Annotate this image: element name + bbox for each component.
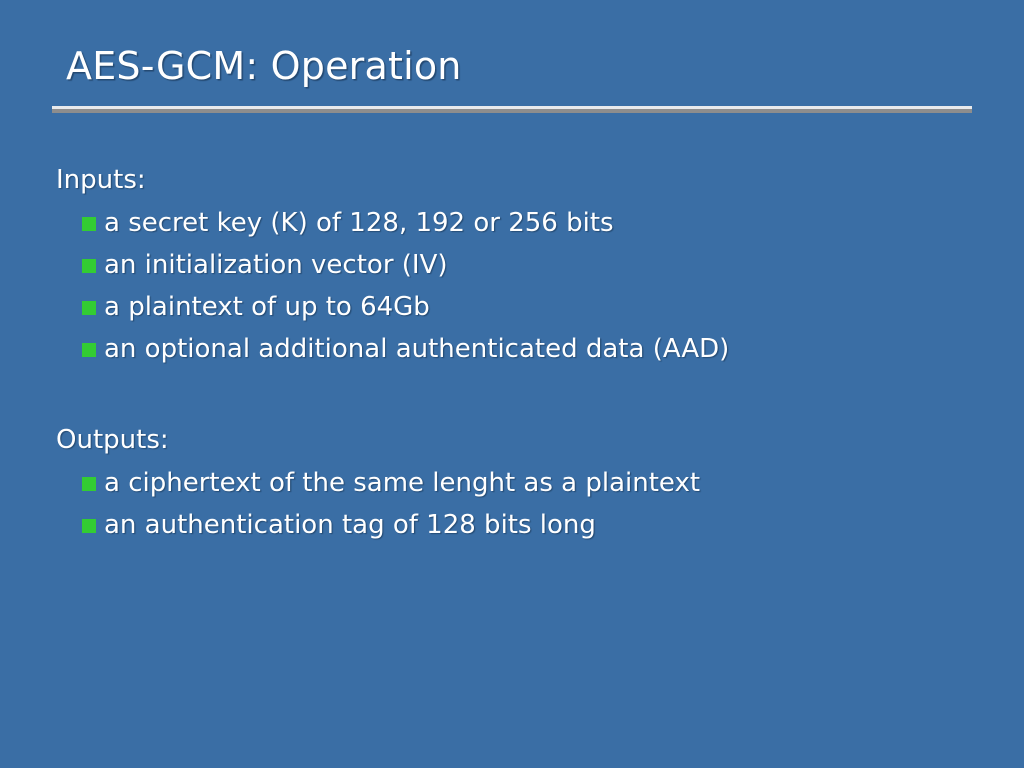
list-item-label: an optional additional authenticated dat… bbox=[104, 332, 729, 366]
list-item: a plaintext of up to 64Gb bbox=[82, 286, 986, 328]
list-item: a ciphertext of the same lenght as a pla… bbox=[82, 462, 986, 504]
list-item: an authentication tag of 128 bits long bbox=[82, 504, 986, 546]
list-item-label: a plaintext of up to 64Gb bbox=[104, 290, 430, 324]
list-item-label: a secret key (K) of 128, 192 or 256 bits bbox=[104, 206, 614, 240]
square-bullet-icon bbox=[82, 477, 96, 491]
list-item: an initialization vector (IV) bbox=[82, 244, 986, 286]
square-bullet-icon bbox=[82, 259, 96, 273]
page-title: AES-GCM: Operation bbox=[66, 40, 462, 92]
slide-title-block: AES-GCM: Operation bbox=[52, 40, 972, 112]
section-inputs: Inputs: a secret key (K) of 128, 192 or … bbox=[56, 160, 986, 370]
bullet-list-outputs: a ciphertext of the same lenght as a pla… bbox=[56, 462, 986, 546]
square-bullet-icon bbox=[82, 343, 96, 357]
list-item: a secret key (K) of 128, 192 or 256 bits bbox=[82, 202, 986, 244]
list-item-label: an authentication tag of 128 bits long bbox=[104, 508, 596, 542]
section-heading-outputs: Outputs: bbox=[56, 420, 986, 460]
list-item-label: an initialization vector (IV) bbox=[104, 248, 448, 282]
list-item-label: a ciphertext of the same lenght as a pla… bbox=[104, 466, 700, 500]
square-bullet-icon bbox=[82, 301, 96, 315]
title-divider bbox=[52, 106, 972, 113]
presentation-slide: AES-GCM: Operation Inputs: a secret key … bbox=[0, 0, 1024, 768]
bullet-list-inputs: a secret key (K) of 128, 192 or 256 bits… bbox=[56, 202, 986, 370]
square-bullet-icon bbox=[82, 217, 96, 231]
list-item: an optional additional authenticated dat… bbox=[82, 328, 986, 370]
slide-body: Inputs: a secret key (K) of 128, 192 or … bbox=[56, 160, 986, 546]
square-bullet-icon bbox=[82, 519, 96, 533]
title-divider-shadow bbox=[52, 109, 972, 113]
section-outputs: Outputs: a ciphertext of the same lenght… bbox=[56, 420, 986, 546]
section-heading-inputs: Inputs: bbox=[56, 160, 986, 200]
